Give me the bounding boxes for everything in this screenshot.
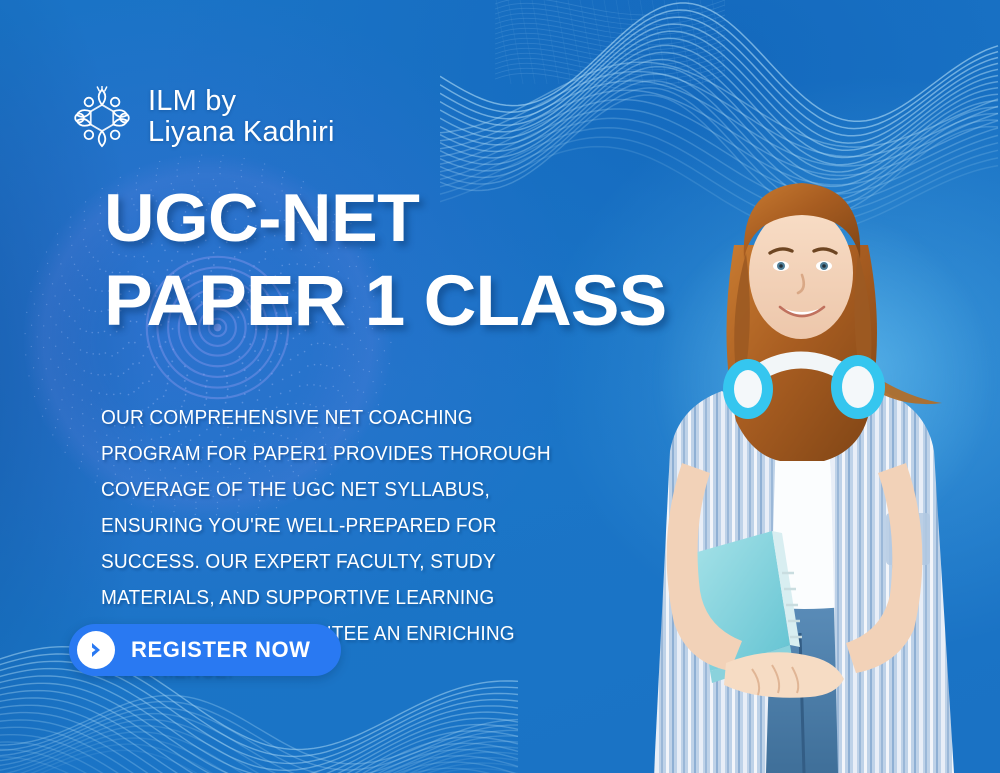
promo-banner: ILM by Liyana Kadhiri UGC-NET PAPER 1 CL… — [0, 0, 1000, 773]
face — [749, 207, 853, 339]
headline-line-1: UGC-NET — [104, 186, 722, 252]
register-now-button[interactable]: Register Now — [69, 624, 341, 676]
mandala-snowflake-icon — [72, 86, 132, 148]
page-title: UGC-NET PAPER 1 CLASS — [104, 186, 704, 337]
headline-line-2: PAPER 1 CLASS — [104, 268, 722, 337]
register-now-label: Register Now — [131, 637, 311, 663]
brand-logo-text: ILM by Liyana Kadhiri — [148, 86, 335, 148]
chevron-right-circle-icon — [77, 631, 115, 669]
brand-logo[interactable]: ILM by Liyana Kadhiri — [72, 86, 335, 148]
